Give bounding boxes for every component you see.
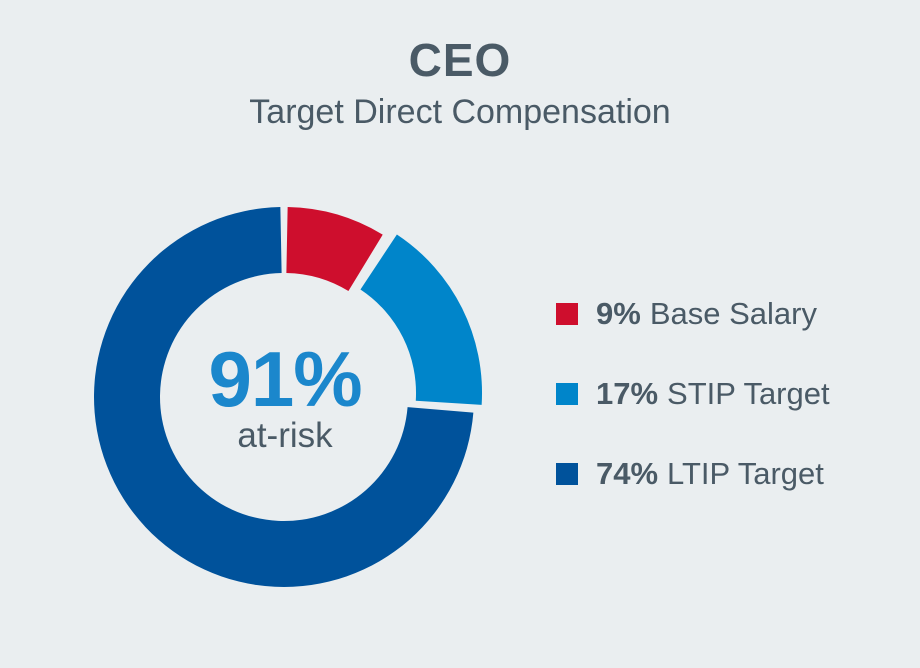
- legend-item-base-salary[interactable]: 9% Base Salary: [556, 296, 886, 332]
- page-subtitle: Target Direct Compensation: [0, 94, 920, 131]
- donut-slice-stip-target[interactable]: [360, 234, 482, 404]
- legend-swatch-ltip-target: [556, 463, 578, 485]
- chart-legend: 9% Base Salary 17% STIP Target 74% LTIP …: [556, 296, 886, 492]
- legend-swatch-stip-target: [556, 383, 578, 405]
- legend-swatch-base-salary: [556, 303, 578, 325]
- legend-percent-stip-target: 17%: [596, 376, 658, 412]
- legend-item-stip-target[interactable]: 17% STIP Target: [556, 376, 886, 412]
- donut-chart-svg: [84, 197, 486, 599]
- legend-item-ltip-target[interactable]: 74% LTIP Target: [556, 456, 886, 492]
- donut-chart-figure: CEO Target Direct Compensation 91% at-ri…: [0, 0, 920, 668]
- legend-percent-ltip-target: 74%: [596, 456, 658, 492]
- legend-label-base-salary: Base Salary: [650, 296, 817, 332]
- page-title: CEO: [0, 36, 920, 84]
- legend-label-ltip-target: LTIP Target: [667, 456, 824, 492]
- donut-chart: [84, 197, 486, 599]
- title-block: CEO Target Direct Compensation: [0, 36, 920, 132]
- legend-label-stip-target: STIP Target: [667, 376, 830, 412]
- legend-percent-base-salary: 9%: [596, 296, 641, 332]
